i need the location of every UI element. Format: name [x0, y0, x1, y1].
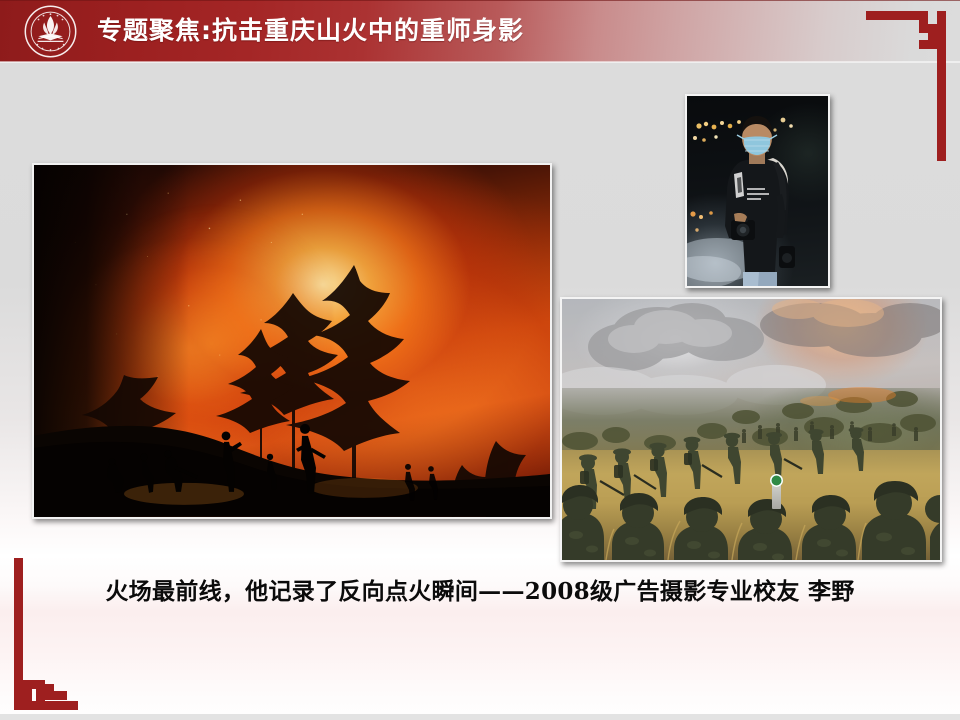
photo-wildfire-night: [32, 163, 552, 519]
chinese-corner-ornament-top-right-icon: [866, 11, 946, 161]
soldiers-trail-marker-sign: [772, 479, 781, 509]
slide-bottom-strip: [0, 714, 960, 720]
slide-caption: 火场最前线，他记录了反向点火瞬间——2008级广告摄影专业校友 李野: [0, 572, 960, 606]
page-title: 专题聚焦:抗击重庆山火中的重师身影: [97, 11, 524, 47]
soldiers-figures: [562, 299, 940, 560]
header-bottom-rule: [0, 61, 960, 63]
photo-photographer-portrait: [685, 94, 830, 288]
header-top-rule: [0, 0, 960, 1]
university-seal-icon: [24, 5, 77, 58]
slide-root: 专题聚焦:抗击重庆山火中的重师身影: [0, 0, 960, 720]
portrait-figure: [687, 96, 828, 286]
photo-soldiers-hillside: [560, 297, 942, 562]
wildfire-ridge-and-firefighters: [34, 376, 550, 517]
